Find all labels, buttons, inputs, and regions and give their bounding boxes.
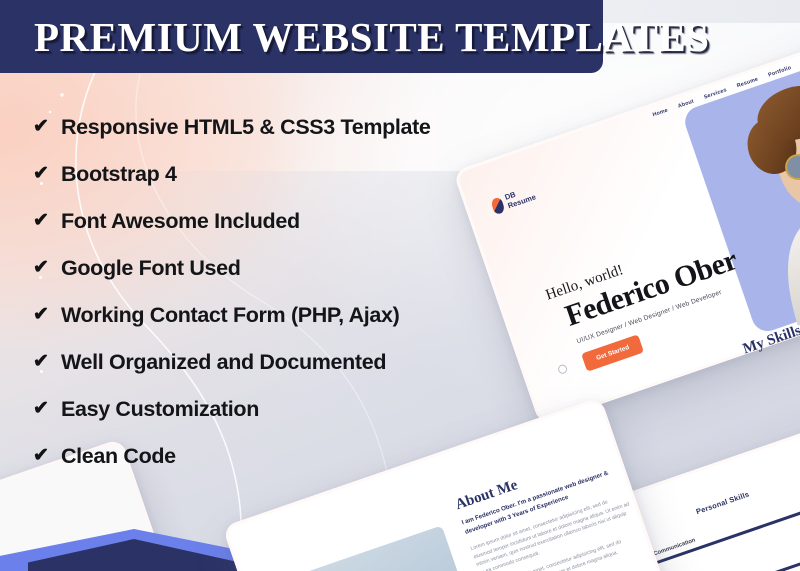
hero-scroll-dot-icon[interactable] xyxy=(557,363,568,374)
check-icon: ✔ xyxy=(33,305,50,324)
feature-list: ✔ Responsive HTML5 & CSS3 Template ✔ Boo… xyxy=(33,104,503,480)
about-workspace-photo xyxy=(266,525,491,571)
check-icon: ✔ xyxy=(33,352,50,371)
feature-item: ✔ Easy Customization xyxy=(33,386,503,433)
feature-item: ✔ Clean Code xyxy=(33,433,503,480)
feature-label: Google Font Used xyxy=(61,256,241,281)
check-icon: ✔ xyxy=(33,117,50,136)
check-icon: ✔ xyxy=(33,399,50,418)
feature-label: Font Awesome Included xyxy=(61,209,300,234)
feature-label: Clean Code xyxy=(61,444,176,469)
decorative-dots xyxy=(36,104,48,480)
hero-logo-text: DB Resume xyxy=(504,185,537,211)
feature-item: ✔ Font Awesome Included xyxy=(33,198,503,245)
feature-item: ✔ Google Font Used xyxy=(33,245,503,292)
header-banner: PREMIUM WEBSITE TEMPLATES xyxy=(0,0,603,73)
check-icon: ✔ xyxy=(33,446,50,465)
feature-item: ✔ Working Contact Form (PHP, Ajax) xyxy=(33,292,503,339)
check-icon: ✔ xyxy=(33,211,50,230)
feature-label: Working Contact Form (PHP, Ajax) xyxy=(61,303,399,328)
feature-label: Bootstrap 4 xyxy=(61,162,177,187)
feature-label: Well Organized and Documented xyxy=(61,350,386,375)
feature-item: ✔ Bootstrap 4 xyxy=(33,151,503,198)
nav-item-home[interactable]: Home xyxy=(652,108,669,119)
feature-label: Responsive HTML5 & CSS3 Template xyxy=(61,115,431,140)
check-icon: ✔ xyxy=(33,258,50,277)
check-icon: ✔ xyxy=(33,164,50,183)
feature-item: ✔ Well Organized and Documented xyxy=(33,339,503,386)
personal-skills-heading: Personal Skills xyxy=(695,490,750,517)
page-title: PREMIUM WEBSITE TEMPLATES xyxy=(34,13,709,61)
feature-item: ✔ Responsive HTML5 & CSS3 Template xyxy=(33,104,503,151)
feature-label: Easy Customization xyxy=(61,397,259,422)
poster-canvas: PREMIUM WEBSITE TEMPLATES xyxy=(0,0,800,571)
